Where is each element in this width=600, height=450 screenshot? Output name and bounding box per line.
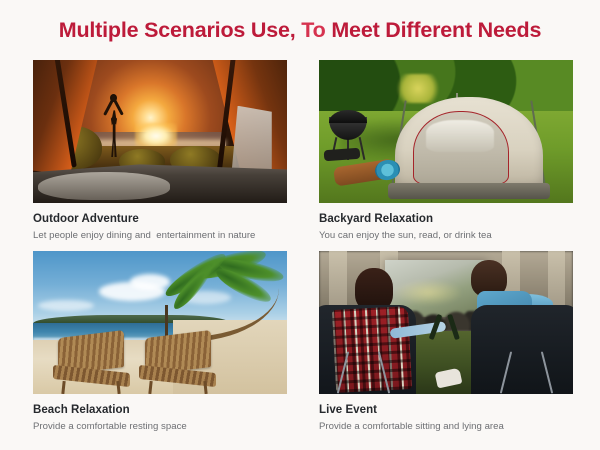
card-title: Live Event bbox=[319, 404, 573, 416]
card-description: Let people enjoy dining and entertainmen… bbox=[33, 230, 287, 241]
page-title-accent: To bbox=[296, 18, 326, 42]
card-title: Beach Relaxation bbox=[33, 404, 287, 416]
card-description: Provide a comfortable sitting and lying … bbox=[319, 421, 573, 432]
page-title-part1: Multiple Scenarios Use, bbox=[59, 18, 296, 42]
beach-deck-chairs-palm-photo bbox=[33, 251, 287, 394]
page-title-part2: Meet Different Needs bbox=[326, 18, 542, 42]
backyard-tent-grill-photo bbox=[319, 60, 573, 203]
card-title: Backyard Relaxation bbox=[319, 213, 573, 225]
scenario-card-beach-relaxation: Beach Relaxation Provide a comfortable r… bbox=[33, 251, 287, 432]
page-title: Multiple Scenarios Use, To Meet Differen… bbox=[0, 18, 600, 43]
tent-interior-sunrise-photo bbox=[33, 60, 287, 203]
card-description: Provide a comfortable resting space bbox=[33, 421, 287, 432]
scenario-card-outdoor-adventure: Outdoor Adventure Let people enjoy dinin… bbox=[33, 60, 287, 241]
outdoor-movie-couple-chairs-photo bbox=[319, 251, 573, 394]
scenario-card-backyard-relaxation: Backyard Relaxation You can enjoy the su… bbox=[319, 60, 573, 241]
scenario-card-grid: Outdoor Adventure Let people enjoy dinin… bbox=[33, 60, 573, 432]
card-description: You can enjoy the sun, read, or drink te… bbox=[319, 230, 573, 241]
scenario-card-live-event: Live Event Provide a comfortable sitting… bbox=[319, 251, 573, 432]
scenarios-feature-page: Multiple Scenarios Use, To Meet Differen… bbox=[0, 0, 600, 450]
card-title: Outdoor Adventure bbox=[33, 213, 287, 225]
